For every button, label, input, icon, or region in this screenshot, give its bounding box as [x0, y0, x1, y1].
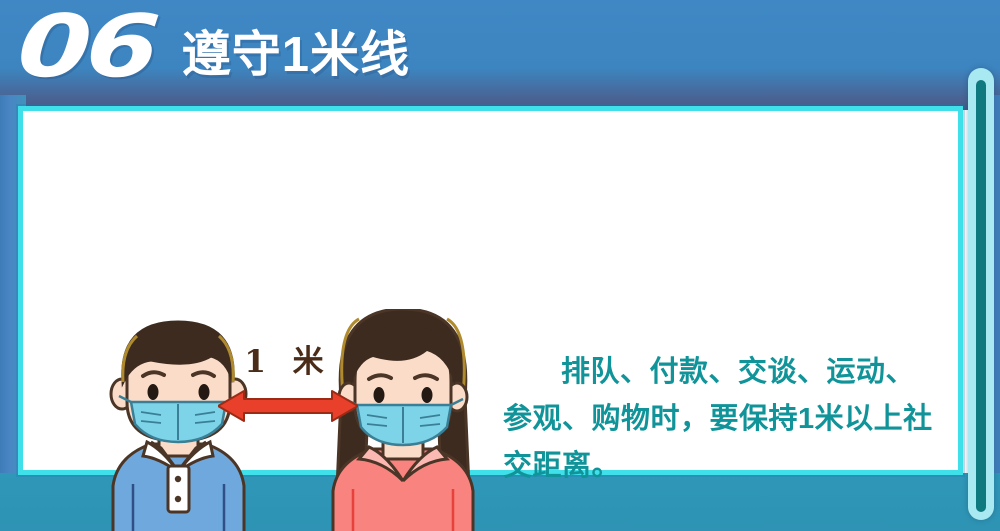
- page-title: 遵守1米线: [182, 15, 410, 86]
- body-text: 排队、付款、交谈、运动、参观、购物时，要保持1米以上社交距离。: [503, 349, 943, 490]
- right-accent-bar-inner: [976, 80, 986, 512]
- content-card: 1 米 排队、付款、交谈、运动、参观、购物时，要保持1米以上社交距离。: [18, 106, 963, 475]
- body-paragraph: 排队、付款、交谈、运动、参观、购物时，要保持1米以上社交距离。: [503, 349, 943, 490]
- step-number: 06: [14, 4, 158, 96]
- illustration-group: 1 米: [63, 301, 493, 531]
- double-headed-arrow-icon: [218, 388, 358, 424]
- poster-header: 06 遵守1米线: [0, 0, 700, 100]
- poster-root: 06 遵守1米线: [0, 0, 1000, 531]
- distance-indicator: 1 米: [218, 336, 358, 436]
- distance-label: 1 米: [218, 336, 358, 381]
